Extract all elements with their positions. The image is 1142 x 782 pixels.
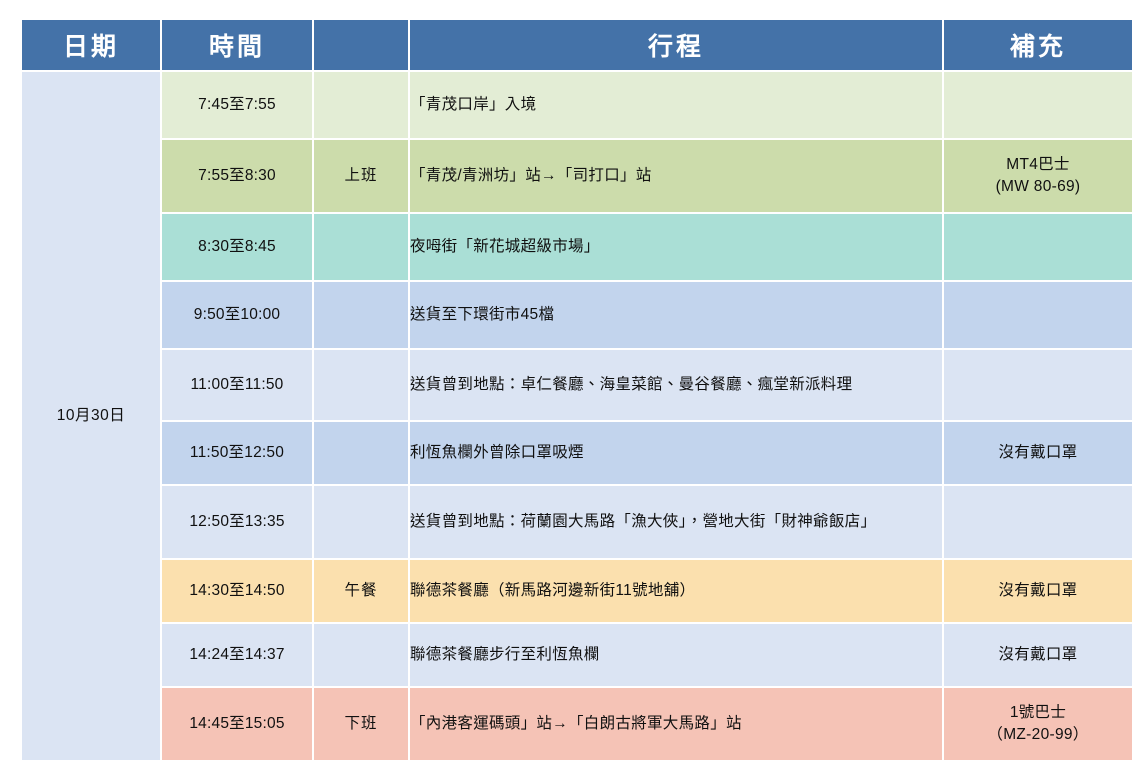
route-cell: 送貨曾到地點：卓仁餐廳、海皇菜館、曼谷餐廳、瘋堂新派料理: [410, 350, 942, 420]
note-cell: 1號巴士 （MZ-20-99）: [944, 688, 1132, 760]
route-cell: 聯德茶餐廳（新馬路河邊新街11號地舖）: [410, 560, 942, 622]
table-row: 10月30日 7:45至7:55 「青茂口岸」入境: [22, 72, 1132, 138]
table-row: 7:55至8:30 上班 「青茂/青洲坊」站→「司打口」站 MT4巴士 (MW …: [22, 140, 1132, 212]
table-row: 11:00至11:50 送貨曾到地點：卓仁餐廳、海皇菜館、曼谷餐廳、瘋堂新派料理: [22, 350, 1132, 420]
route-cell: 送貨至下環街市45檔: [410, 282, 942, 348]
tag-cell: [314, 422, 408, 484]
column-header-route: 行程: [410, 20, 942, 70]
table-row: 8:30至8:45 夜呣街「新花城超級市場」: [22, 214, 1132, 280]
note-cell: MT4巴士 (MW 80-69): [944, 140, 1132, 212]
column-header-note: 補充: [944, 20, 1132, 70]
time-cell: 9:50至10:00: [162, 282, 312, 348]
route-cell: 聯德茶餐廳步行至利恆魚欄: [410, 624, 942, 686]
schedule-sheet: 日期 時間 行程 補充 10月30日 7:45至7:55 「青茂口岸」入境 7:…: [0, 0, 1142, 782]
time-cell: 14:45至15:05: [162, 688, 312, 760]
route-cell: 「青茂/青洲坊」站→「司打口」站: [410, 140, 942, 212]
route-cell: 「青茂口岸」入境: [410, 72, 942, 138]
tag-cell: [314, 624, 408, 686]
note-cell: 沒有戴口罩: [944, 560, 1132, 622]
time-cell: 14:24至14:37: [162, 624, 312, 686]
itinerary-table: 日期 時間 行程 補充 10月30日 7:45至7:55 「青茂口岸」入境 7:…: [20, 18, 1134, 762]
route-cell: 利恆魚欄外曾除口罩吸煙: [410, 422, 942, 484]
table-row: 14:30至14:50 午餐 聯德茶餐廳（新馬路河邊新街11號地舖） 沒有戴口罩: [22, 560, 1132, 622]
table-row: 11:50至12:50 利恆魚欄外曾除口罩吸煙 沒有戴口罩: [22, 422, 1132, 484]
tag-cell: 午餐: [314, 560, 408, 622]
note-cell: 沒有戴口罩: [944, 422, 1132, 484]
route-cell: 夜呣街「新花城超級市場」: [410, 214, 942, 280]
time-cell: 7:45至7:55: [162, 72, 312, 138]
tag-cell: [314, 72, 408, 138]
note-cell: [944, 282, 1132, 348]
note-cell: [944, 72, 1132, 138]
table-header: 日期 時間 行程 補充: [22, 20, 1132, 70]
time-cell: 11:50至12:50: [162, 422, 312, 484]
table-row: 14:45至15:05 下班 「內港客運碼頭」站→「白朗古將軍大馬路」站 1號巴…: [22, 688, 1132, 760]
table-body: 10月30日 7:45至7:55 「青茂口岸」入境 7:55至8:30 上班 「…: [22, 72, 1132, 760]
table-row: 9:50至10:00 送貨至下環街市45檔: [22, 282, 1132, 348]
header-row: 日期 時間 行程 補充: [22, 20, 1132, 70]
time-cell: 12:50至13:35: [162, 486, 312, 558]
note-cell: [944, 214, 1132, 280]
table-row: 14:24至14:37 聯德茶餐廳步行至利恆魚欄 沒有戴口罩: [22, 624, 1132, 686]
note-cell: [944, 486, 1132, 558]
tag-cell: 下班: [314, 688, 408, 760]
note-cell: [944, 350, 1132, 420]
tag-cell: [314, 282, 408, 348]
time-cell: 14:30至14:50: [162, 560, 312, 622]
route-cell: 「內港客運碼頭」站→「白朗古將軍大馬路」站: [410, 688, 942, 760]
column-header-date: 日期: [22, 20, 160, 70]
tag-cell: [314, 214, 408, 280]
time-cell: 8:30至8:45: [162, 214, 312, 280]
column-header-time: 時間: [162, 20, 312, 70]
note-cell: 沒有戴口罩: [944, 624, 1132, 686]
time-cell: 11:00至11:50: [162, 350, 312, 420]
time-cell: 7:55至8:30: [162, 140, 312, 212]
tag-cell: [314, 486, 408, 558]
tag-cell: [314, 350, 408, 420]
column-header-tag: [314, 20, 408, 70]
route-cell: 送貨曾到地點：荷蘭園大馬路「漁大俠」，營地大街「財神爺飯店」: [410, 486, 942, 558]
tag-cell: 上班: [314, 140, 408, 212]
table-row: 12:50至13:35 送貨曾到地點：荷蘭園大馬路「漁大俠」，營地大街「財神爺飯…: [22, 486, 1132, 558]
date-cell: 10月30日: [22, 72, 160, 760]
